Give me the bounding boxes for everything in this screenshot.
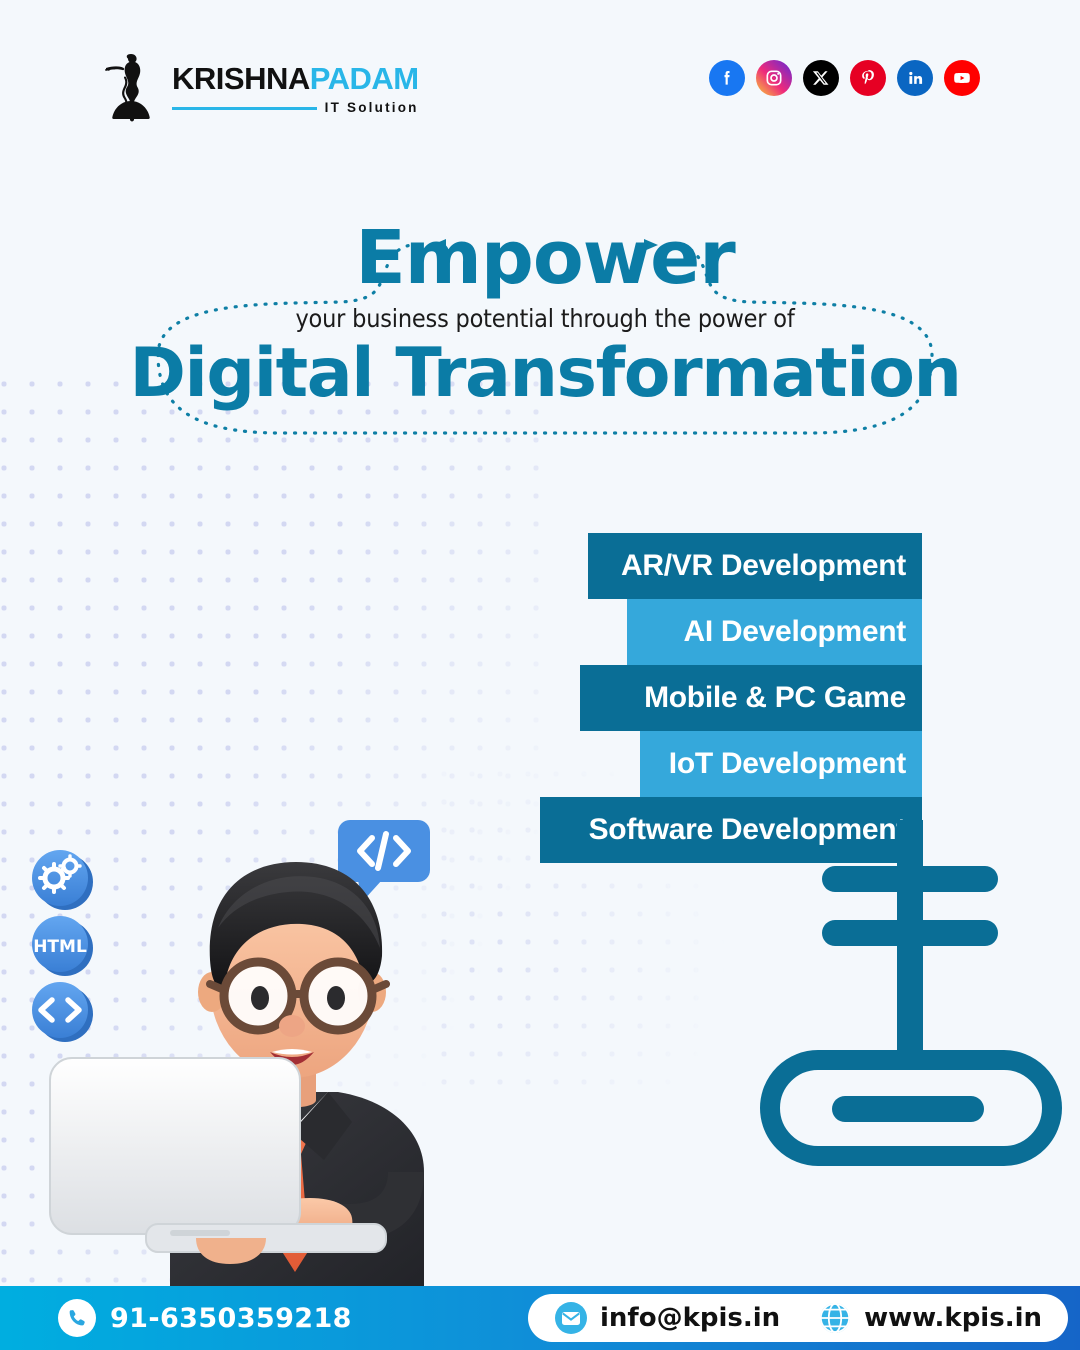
instagram-icon[interactable]: [756, 60, 792, 96]
headline-block: Empower your business potential through …: [150, 190, 940, 440]
service-row: IoT Development: [0, 731, 922, 797]
envelope-icon: [554, 1301, 588, 1335]
footer-phone[interactable]: 91-6350359218: [58, 1299, 352, 1337]
svg-text:HTML: HTML: [33, 937, 87, 957]
krishna-flute-silhouette-icon: [100, 52, 162, 122]
pinterest-icon[interactable]: [850, 60, 886, 96]
footer-website[interactable]: www.kpis.in: [818, 1301, 1042, 1335]
footer-bar: 91-6350359218 info@kpis.in: [0, 1286, 1080, 1350]
brand-tagline: IT Solution: [325, 101, 419, 115]
x-twitter-icon[interactable]: [803, 60, 839, 96]
social-links[interactable]: [709, 60, 980, 96]
footer-email[interactable]: info@kpis.in: [554, 1301, 780, 1335]
abstract-tech-antenna-mark: [760, 820, 1070, 1290]
website-text: www.kpis.in: [864, 1303, 1042, 1333]
footer-contact-pill: info@kpis.in www.kpis.in: [528, 1294, 1068, 1342]
service-item-game[interactable]: Mobile & PC Game: [580, 665, 922, 731]
phone-icon: [58, 1299, 96, 1337]
code-badge-icon: [32, 982, 93, 1042]
service-item-ai[interactable]: AI Development: [627, 599, 922, 665]
service-item-arvr[interactable]: AR/VR Development: [588, 533, 922, 599]
globe-icon: [818, 1301, 852, 1335]
service-item-iot[interactable]: IoT Development: [640, 731, 922, 797]
headline-word: Empower: [355, 223, 735, 294]
brand-wordmark: KRISHNAPADAM IT Solution: [172, 59, 419, 115]
linkedin-icon[interactable]: [897, 60, 933, 96]
brand-logo[interactable]: KRISHNAPADAM IT Solution: [100, 52, 419, 122]
mark-crossbar-bottom: [822, 920, 998, 946]
character-illustration: HTML: [20, 800, 560, 1290]
mark-crossbar-top: [822, 866, 998, 892]
mark-base-pill: [832, 1096, 984, 1122]
headline-subline: your business potential through the powe…: [295, 304, 794, 333]
headline-main: Digital Transformation: [129, 339, 960, 408]
youtube-icon[interactable]: [944, 60, 980, 96]
poster-canvas: KRISHNAPADAM IT Solution: [0, 0, 1080, 1350]
brand-name-part2: PADAM: [310, 61, 419, 96]
phone-number: 91-6350359218: [110, 1303, 352, 1334]
service-row: AI Development: [0, 599, 922, 665]
service-row: Mobile & PC Game: [0, 665, 922, 731]
gears-badge-icon: [32, 850, 93, 910]
facebook-icon[interactable]: [709, 60, 745, 96]
html-badge-icon: HTML: [32, 916, 93, 976]
brand-rule: [172, 107, 317, 110]
service-row: AR/VR Development: [0, 533, 922, 599]
email-text: info@kpis.in: [600, 1303, 780, 1333]
brand-name-part1: KRISHNA: [172, 61, 310, 96]
